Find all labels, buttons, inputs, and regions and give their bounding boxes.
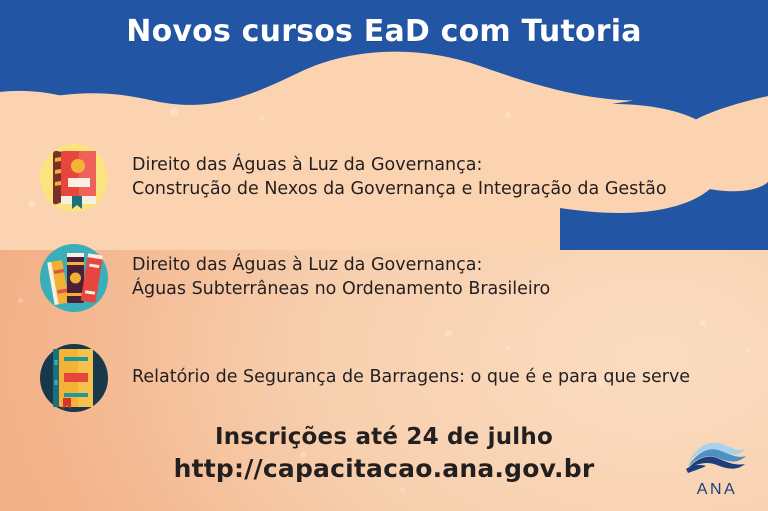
stack-of-books-icon xyxy=(34,238,114,318)
course-title: Relatório de Segurança de Barragens: o q… xyxy=(132,366,690,390)
ana-logo-text: ANA xyxy=(684,481,750,499)
registration-url[interactable]: http://capacitacao.ana.gov.br xyxy=(0,454,768,483)
red-book-icon xyxy=(34,138,114,218)
course-item[interactable]: Direito das Águas à Luz da Governança: C… xyxy=(0,128,768,228)
page-title: Novos cursos EaD com Tutoria xyxy=(0,14,768,49)
course-item[interactable]: Direito das Águas à Luz da Governança: Á… xyxy=(0,228,768,328)
course-list: Direito das Águas à Luz da Governança: C… xyxy=(0,128,768,428)
course-item[interactable]: Relatório de Segurança de Barragens: o q… xyxy=(0,328,768,428)
course-title: Direito das Águas à Luz da Governança: Á… xyxy=(132,254,550,301)
ana-wave-icon xyxy=(684,439,750,477)
deadline-text: Inscrições até 24 de julho xyxy=(0,424,768,450)
poster-canvas: Novos cursos EaD com Tutoria xyxy=(0,0,768,511)
sparkle-dot xyxy=(400,487,405,492)
notebook-icon xyxy=(34,338,114,418)
course-title: Direito das Águas à Luz da Governança: C… xyxy=(132,154,667,201)
footer: Inscrições até 24 de julho http://capaci… xyxy=(0,424,768,483)
ana-logo: ANA xyxy=(684,439,750,501)
